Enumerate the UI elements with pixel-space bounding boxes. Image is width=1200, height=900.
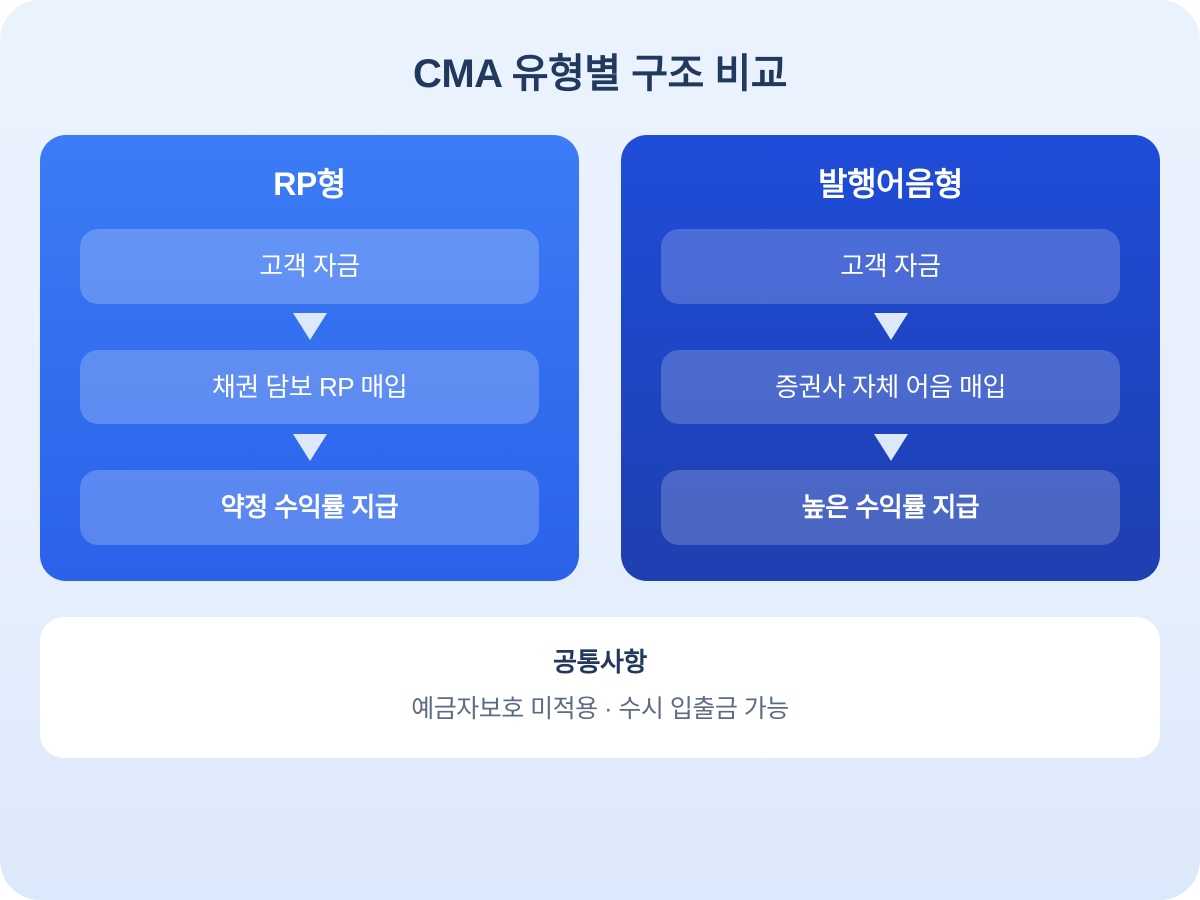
common-notes-card: 공통사항 예금자보호 미적용 · 수시 입출금 가능 [40, 617, 1160, 758]
arrow-down-triangle [874, 434, 908, 461]
infographic-page: CMA 유형별 구조 비교 RP형 고객 자금 채권 담보 RP 매입 약정 수… [0, 0, 1200, 900]
comparison-columns: RP형 고객 자금 채권 담보 RP 매입 약정 수익률 지급 발행어음형 고객… [40, 135, 1160, 581]
arrow-down-triangle [874, 313, 908, 340]
card-rp-step-3: 약정 수익률 지급 [80, 470, 539, 545]
page-title: CMA 유형별 구조 비교 [40, 0, 1160, 98]
card-note: 발행어음형 고객 자금 증권사 자체 어음 매입 높은 수익률 지급 [621, 135, 1160, 581]
card-note-step-3: 높은 수익률 지급 [661, 470, 1120, 545]
common-notes-title: 공통사항 [60, 647, 1140, 678]
common-notes-description: 예금자보호 미적용 · 수시 입출금 가능 [60, 694, 1140, 724]
arrow-down-icon [80, 424, 539, 470]
card-rp: RP형 고객 자금 채권 담보 RP 매입 약정 수익률 지급 [40, 135, 579, 581]
card-rp-step-2: 채권 담보 RP 매입 [80, 350, 539, 425]
arrow-down-icon [80, 304, 539, 350]
card-note-step-2: 증권사 자체 어음 매입 [661, 350, 1120, 425]
arrow-down-icon [661, 304, 1120, 350]
arrow-down-icon [661, 424, 1120, 470]
card-note-title: 발행어음형 [661, 165, 1120, 203]
card-rp-step-1: 고객 자금 [80, 229, 539, 304]
arrow-down-triangle [293, 434, 327, 461]
arrow-down-triangle [293, 313, 327, 340]
card-note-step-1: 고객 자금 [661, 229, 1120, 304]
card-rp-title: RP형 [80, 165, 539, 203]
